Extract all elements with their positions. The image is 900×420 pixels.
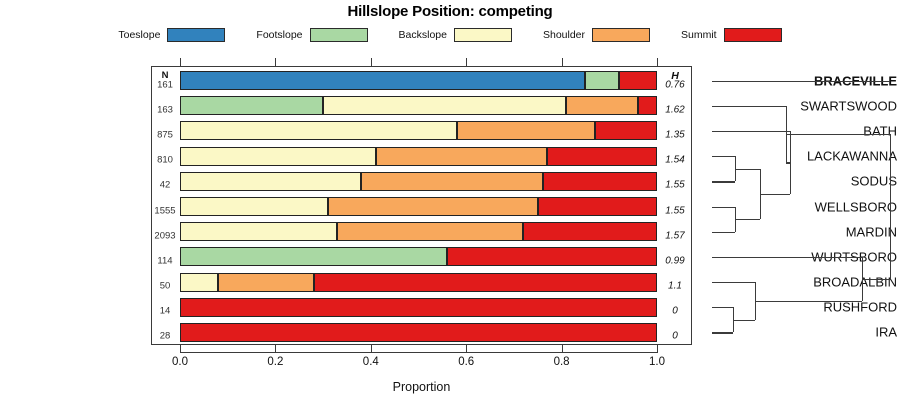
n-column-header: N xyxy=(151,70,179,81)
table-row xyxy=(180,298,657,317)
bar-segment-summit xyxy=(595,121,657,140)
legend-swatch-footslope xyxy=(310,28,368,42)
bar-segment-shoulder xyxy=(361,172,542,191)
legend-label: Toeslope xyxy=(118,29,160,41)
x-axis-line xyxy=(180,352,657,353)
x-axis-tick xyxy=(180,345,181,353)
dendrogram-link xyxy=(712,156,735,157)
x-axis-tick xyxy=(562,345,563,353)
dendrogram-link xyxy=(790,131,791,194)
dendrogram-link xyxy=(712,81,890,82)
row-n-value: 875 xyxy=(151,129,179,140)
row-n-value: 163 xyxy=(151,104,179,115)
bar-segment-footslope xyxy=(180,247,447,266)
row-n-value: 42 xyxy=(151,180,179,191)
dendrogram-link xyxy=(890,134,891,279)
dendrogram-link xyxy=(712,106,786,107)
table-row xyxy=(180,197,657,216)
bar-segment-backslope xyxy=(180,222,337,241)
bar-segment-summit xyxy=(447,247,657,266)
dendrogram-link xyxy=(712,131,790,132)
dendrogram-link xyxy=(760,194,790,195)
x-axis-tick-top xyxy=(466,58,467,66)
table-row xyxy=(180,147,657,166)
row-h-value: 1.55 xyxy=(658,205,692,216)
dendrogram-link xyxy=(712,181,735,182)
x-axis-tick xyxy=(371,345,372,353)
row-n-value: 1555 xyxy=(151,205,179,216)
dendrogram-link xyxy=(712,332,733,333)
legend-label: Shoulder xyxy=(543,29,585,41)
x-axis-tick-label: 0.6 xyxy=(446,356,486,368)
x-axis-tick-top xyxy=(275,58,276,66)
table-row xyxy=(180,172,657,191)
bar-segment-backslope xyxy=(180,273,218,292)
table-row xyxy=(180,247,657,266)
row-h-value: 0 xyxy=(658,306,692,317)
table-row xyxy=(180,222,657,241)
bar-segment-backslope xyxy=(323,96,566,115)
row-h-value: 0 xyxy=(658,331,692,342)
dendrogram-link xyxy=(712,257,862,258)
bar-segment-summit xyxy=(638,96,657,115)
bar-segment-summit xyxy=(547,147,657,166)
row-h-value: 1.35 xyxy=(658,129,692,140)
bar-segment-summit xyxy=(538,197,657,216)
legend: ToeslopeFootslopeBackslopeShoulderSummit xyxy=(0,26,900,44)
dendrogram-link xyxy=(733,320,755,321)
bar-segment-summit xyxy=(619,71,657,90)
bar-segment-shoulder xyxy=(328,197,538,216)
bar-segment-backslope xyxy=(180,172,361,191)
row-h-value: 1.62 xyxy=(658,104,692,115)
dendrogram-link xyxy=(735,219,760,220)
legend-swatch-backslope xyxy=(454,28,512,42)
hillslope-position-figure: Hillslope Position: competing ToeslopeFo… xyxy=(0,0,900,420)
table-row xyxy=(180,121,657,140)
h-column-header: H xyxy=(658,70,692,82)
legend-item-backslope: Backslope xyxy=(399,28,543,42)
dendrogram-link xyxy=(786,134,870,135)
legend-swatch-shoulder xyxy=(592,28,650,42)
dendrogram xyxy=(692,60,900,360)
row-n-value: 810 xyxy=(151,155,179,166)
bar-segment-summit xyxy=(180,298,657,317)
dendrogram-link xyxy=(712,282,755,283)
bar-segment-backslope xyxy=(180,147,376,166)
bar-segment-summit xyxy=(180,323,657,342)
table-row xyxy=(180,273,657,292)
legend-item-footslope: Footslope xyxy=(256,28,398,42)
dendrogram-link xyxy=(735,169,760,170)
bar-segment-backslope xyxy=(180,197,328,216)
page-title: Hillslope Position: competing xyxy=(0,3,900,20)
bar-segment-summit xyxy=(314,273,657,292)
row-h-value: 1.55 xyxy=(658,180,692,191)
bar-segment-footslope xyxy=(180,96,323,115)
legend-label: Footslope xyxy=(256,29,302,41)
x-axis-tick-label: 0.4 xyxy=(351,356,391,368)
x-axis-tick-label: 1.0 xyxy=(637,356,677,368)
row-n-value: 14 xyxy=(151,306,179,317)
legend-item-summit: Summit xyxy=(681,28,782,42)
dendrogram-link xyxy=(712,232,735,233)
row-h-value: 0.99 xyxy=(658,255,692,266)
x-axis-tick-label: 0.2 xyxy=(255,356,295,368)
x-axis-tick-label: 0.8 xyxy=(542,356,582,368)
legend-swatch-toeslope xyxy=(167,28,225,42)
x-axis-tick-top xyxy=(371,58,372,66)
table-row xyxy=(180,96,657,115)
dendrogram-link xyxy=(870,134,890,135)
row-h-value: 1.1 xyxy=(658,281,692,292)
legend-label: Summit xyxy=(681,29,717,41)
table-row xyxy=(180,323,657,342)
x-axis-tick-label: 0.0 xyxy=(160,356,200,368)
bar-segment-shoulder xyxy=(457,121,595,140)
legend-label: Backslope xyxy=(399,29,447,41)
bar-segment-shoulder xyxy=(337,222,523,241)
bar-segment-footslope xyxy=(585,71,618,90)
table-row xyxy=(180,71,657,90)
dendrogram-link xyxy=(862,279,890,280)
x-axis-tick-top xyxy=(657,58,658,66)
bar-segment-summit xyxy=(543,172,657,191)
bar-segment-shoulder xyxy=(566,96,638,115)
bar-segment-summit xyxy=(523,222,657,241)
x-axis-tick-top xyxy=(562,58,563,66)
row-h-value: 1.54 xyxy=(658,155,692,166)
x-axis-tick xyxy=(657,345,658,353)
dendrogram-link xyxy=(712,307,733,308)
x-axis-tick-top xyxy=(180,58,181,66)
bar-segment-backslope xyxy=(180,121,457,140)
bar-segment-shoulder xyxy=(376,147,548,166)
row-n-value: 2093 xyxy=(151,230,179,241)
bar-segment-shoulder xyxy=(218,273,313,292)
row-n-value: 50 xyxy=(151,281,179,292)
legend-item-shoulder: Shoulder xyxy=(543,28,681,42)
dendrogram-link xyxy=(786,162,790,163)
x-axis-tick xyxy=(275,345,276,353)
legend-item-toeslope: Toeslope xyxy=(118,28,256,42)
row-n-value: 114 xyxy=(151,255,179,266)
bar-segment-toeslope xyxy=(180,71,585,90)
dendrogram-link xyxy=(712,207,735,208)
x-axis-title: Proportion xyxy=(151,380,692,394)
legend-swatch-summit xyxy=(724,28,782,42)
row-h-value: 1.57 xyxy=(658,230,692,241)
row-n-value: 28 xyxy=(151,331,179,342)
x-axis-tick xyxy=(466,345,467,353)
dendrogram-link xyxy=(755,301,862,302)
